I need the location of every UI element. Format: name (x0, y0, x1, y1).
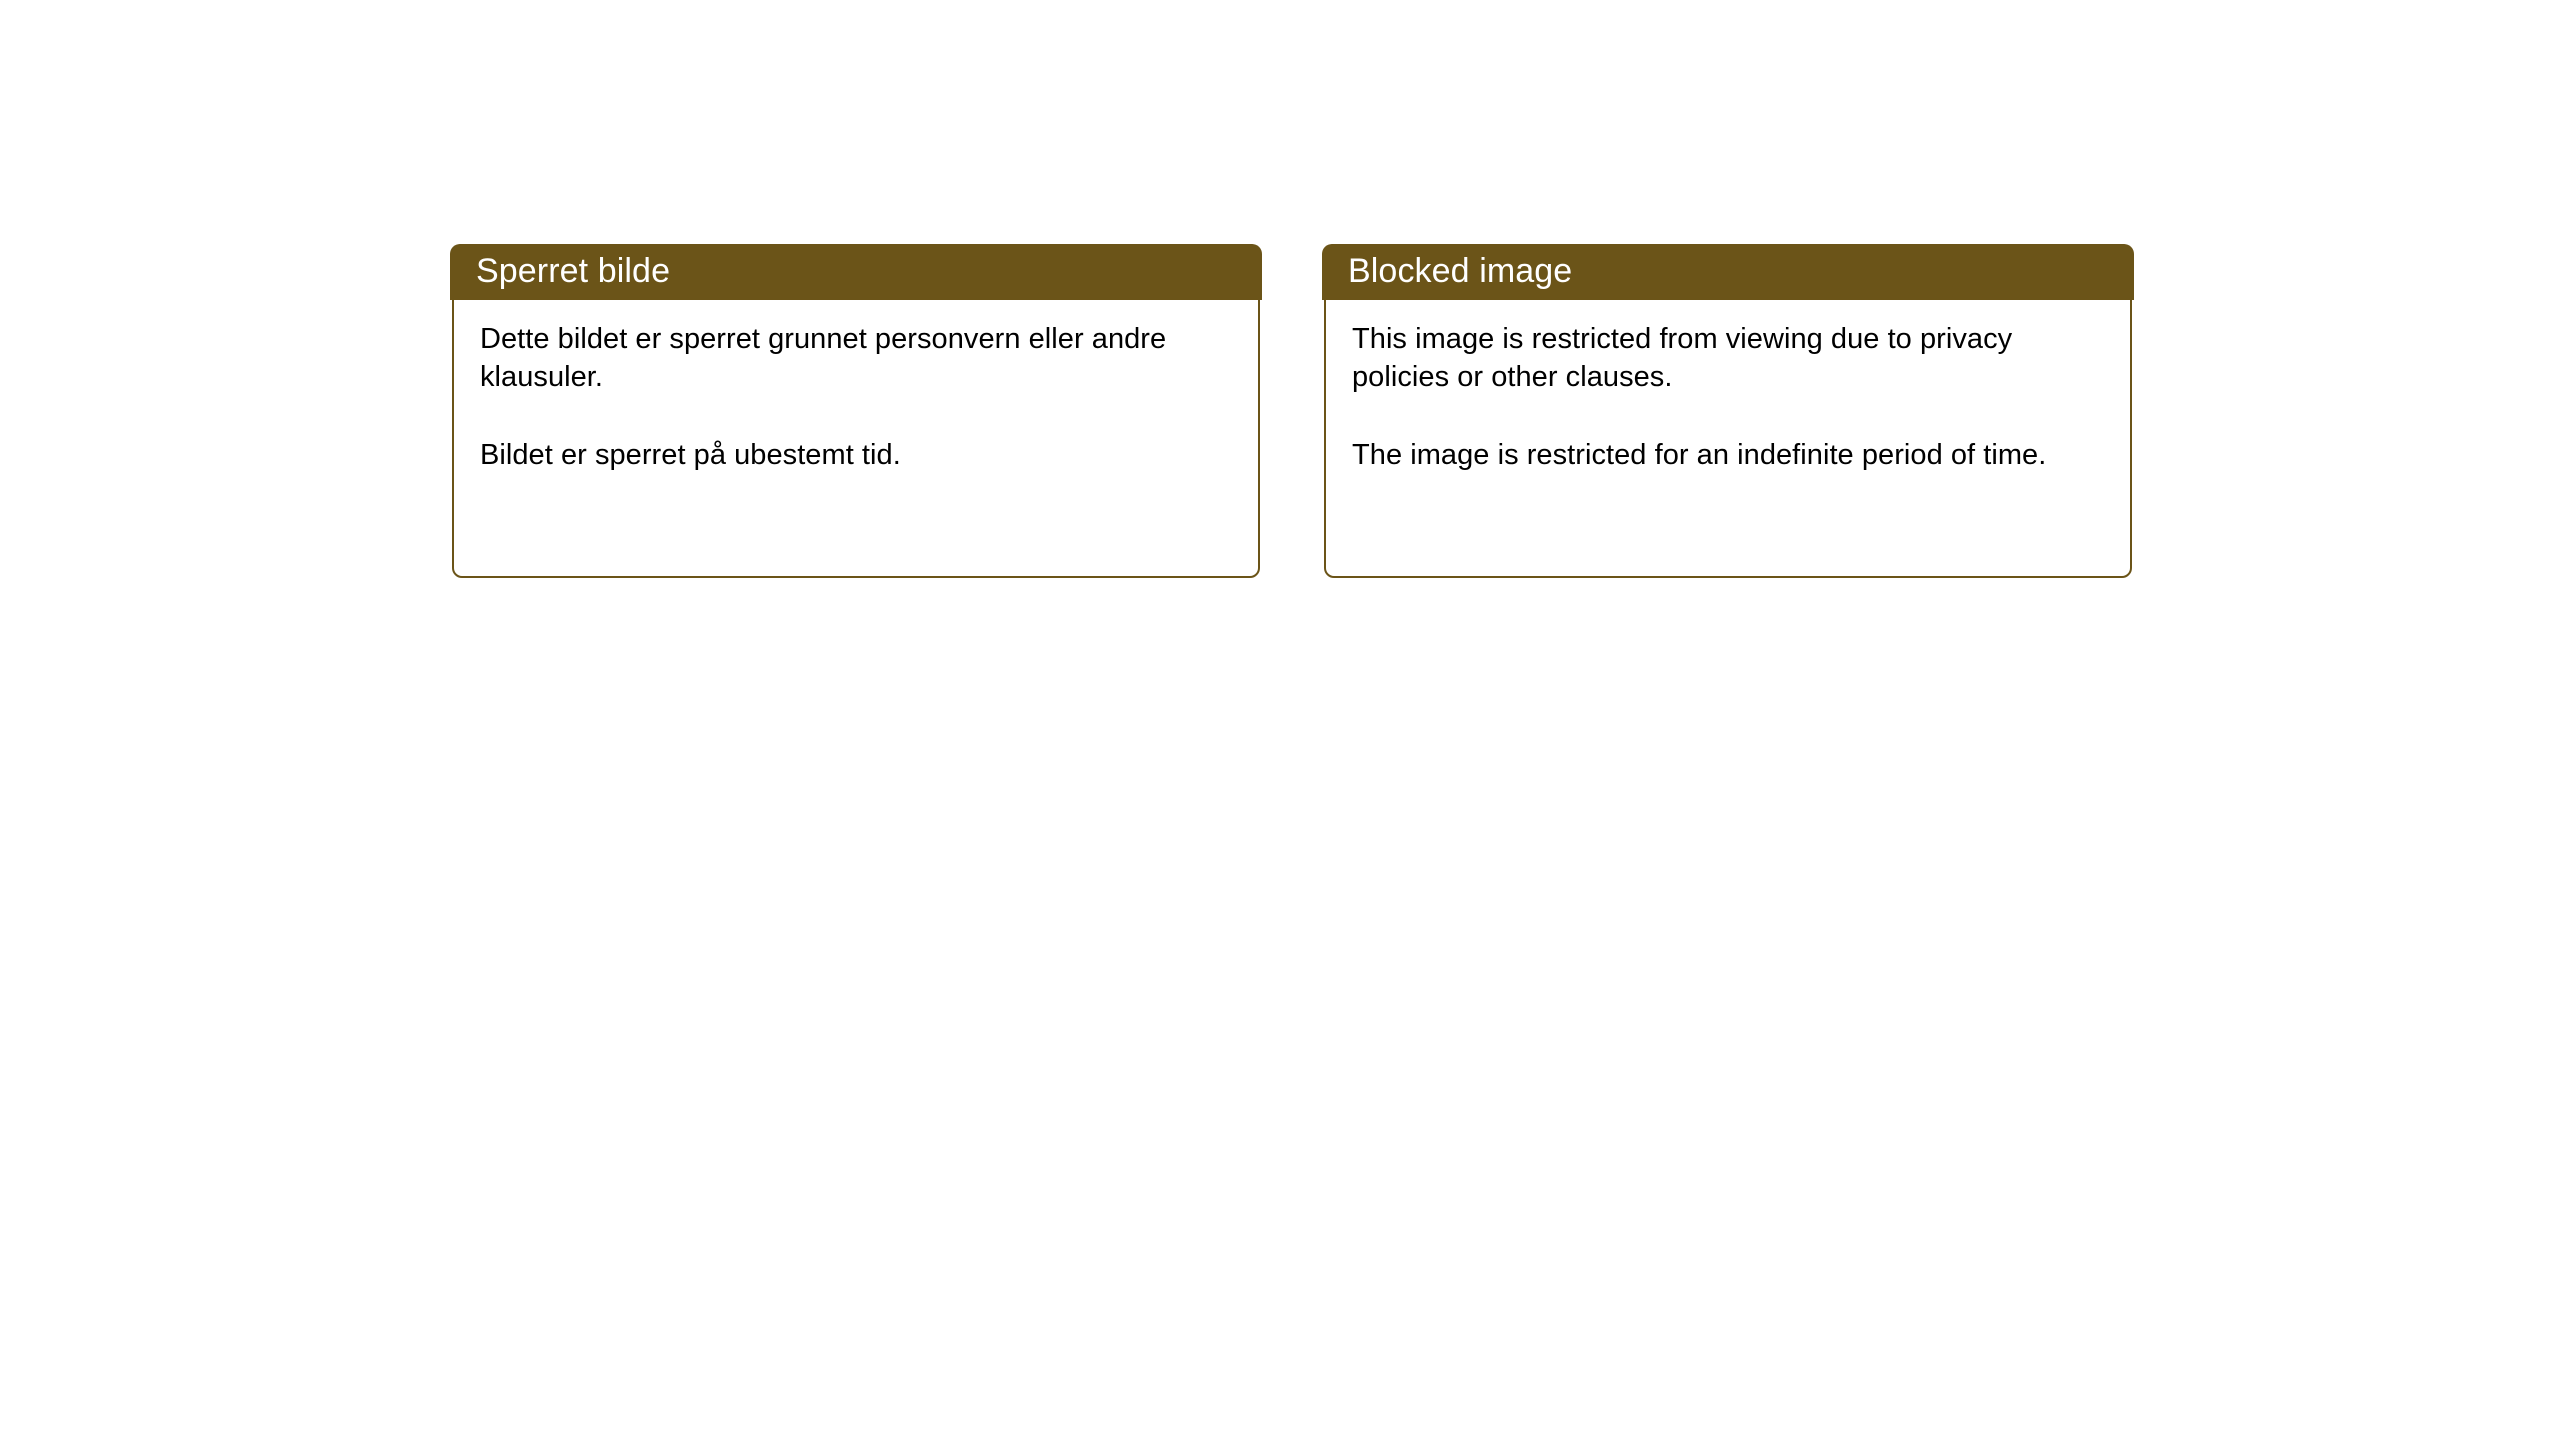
card-paragraph-secondary-norwegian: Bildet er sperret på ubestemt tid. (480, 436, 1234, 474)
card-body-norwegian: Dette bildet er sperret grunnet personve… (454, 300, 1258, 576)
page-root: Sperret bilde Dette bildet er sperret gr… (0, 0, 2560, 1440)
card-header-english: Blocked image (1322, 244, 2134, 300)
card-header-norwegian: Sperret bilde (450, 244, 1262, 300)
card-paragraph-primary-norwegian: Dette bildet er sperret grunnet personve… (480, 320, 1234, 397)
blocked-image-notice-norwegian: Sperret bilde Dette bildet er sperret gr… (452, 244, 1260, 578)
card-title-english: Blocked image (1348, 254, 1572, 288)
blocked-image-notice-english: Blocked image This image is restricted f… (1324, 244, 2132, 578)
card-paragraph-primary-english: This image is restricted from viewing du… (1352, 320, 2106, 397)
card-title-norwegian: Sperret bilde (476, 254, 670, 288)
card-paragraph-secondary-english: The image is restricted for an indefinit… (1352, 436, 2106, 474)
card-body-english: This image is restricted from viewing du… (1326, 300, 2130, 576)
